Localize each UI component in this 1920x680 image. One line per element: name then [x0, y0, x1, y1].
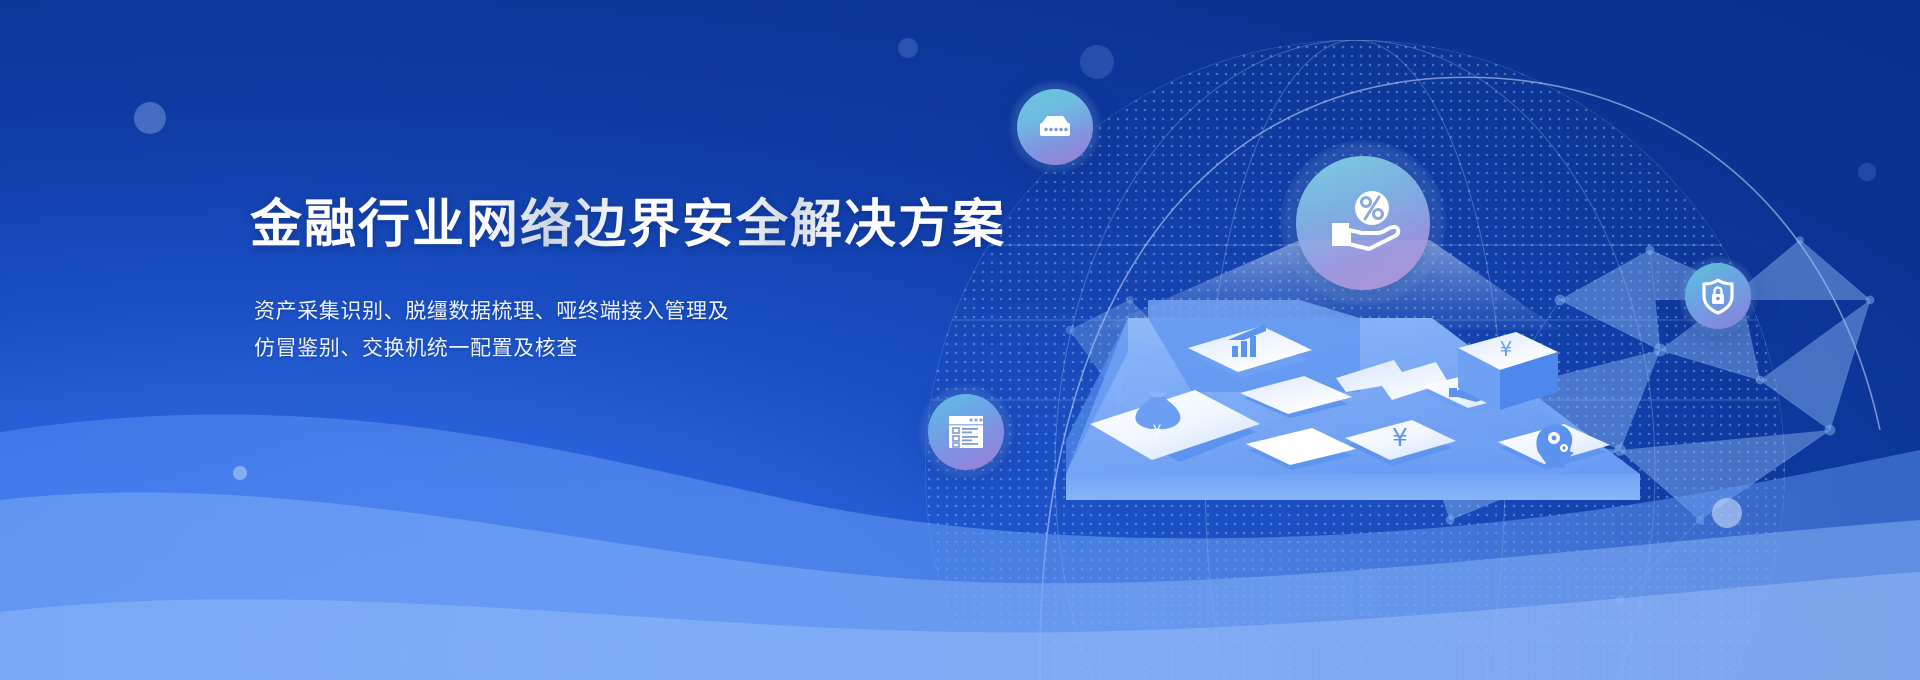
decor-dot — [898, 38, 918, 58]
shield-lock-icon — [1697, 275, 1739, 317]
shield-icon-bubble — [1678, 256, 1758, 336]
document-icon-bubble — [918, 384, 1014, 480]
subtitle-line-1: 资产采集识别、脱缰数据梳理、哑终端接入管理及 — [254, 294, 1010, 331]
switch-icon-bubble — [1008, 80, 1102, 174]
hand-percent-icon — [1315, 175, 1411, 271]
document-list-icon — [941, 407, 991, 457]
percent-icon-bubble — [1280, 140, 1446, 306]
decor-dot — [1858, 163, 1876, 181]
banner-copy: 金融行业网络边界安全解决方案 资产采集识别、脱缰数据梳理、哑终端接入管理及 仿冒… — [250, 196, 1010, 367]
subtitle-line-2: 仿冒鉴别、交换机统一配置及核查 — [254, 331, 1010, 368]
page-subtitle: 资产采集识别、脱缰数据梳理、哑终端接入管理及 仿冒鉴别、交换机统一配置及核查 — [254, 294, 1010, 367]
page-title: 金融行业网络边界安全解决方案 — [250, 196, 1010, 254]
finance-network-security-banner: ¥ — [0, 0, 1920, 680]
network-switch-icon — [1031, 103, 1079, 151]
decor-dot — [1080, 45, 1114, 79]
decor-dot — [134, 102, 166, 134]
decor-dot — [233, 466, 247, 480]
decor-dot — [1712, 498, 1742, 528]
